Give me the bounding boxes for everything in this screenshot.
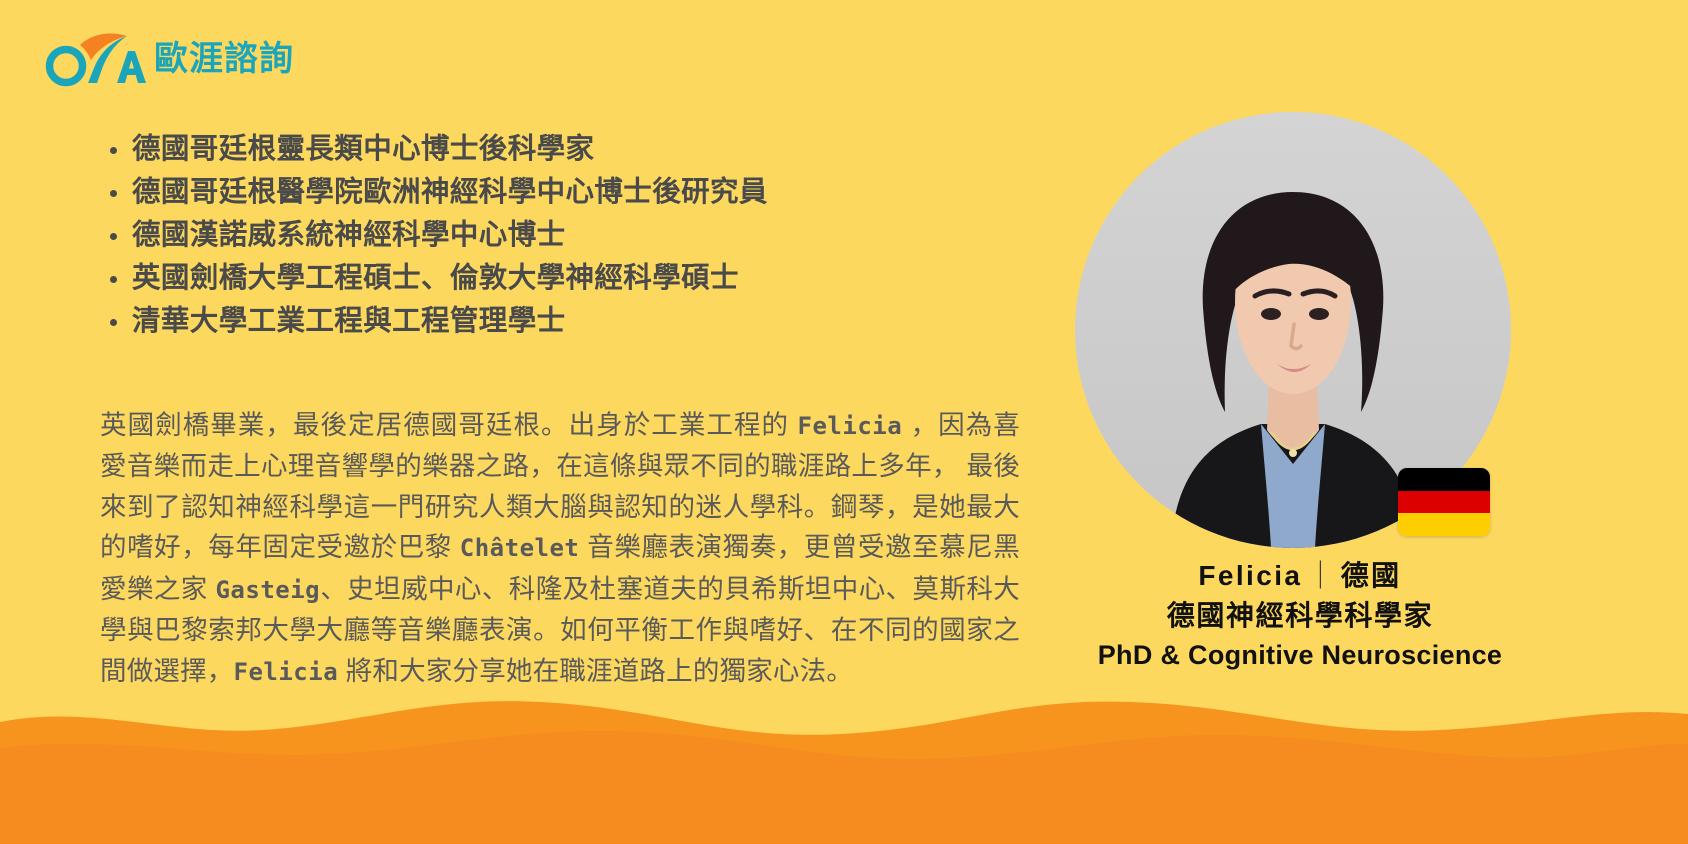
bio-latin-term: Felicia (798, 412, 903, 440)
profile-country: 德國 (1341, 560, 1402, 591)
flag-stripe-gold (1398, 513, 1490, 536)
bio-latin-term: Felicia (234, 658, 339, 686)
list-item: 德國漢諾威系統神經科學中心博士 (132, 214, 1092, 257)
list-item: 德國哥廷根醫學院歐洲神經科學中心博士後研究員 (132, 171, 1092, 214)
biography-paragraph: 英國劍橋畢業，最後定居德國哥廷根。出身於工業工程的 Felicia ，因為喜愛音… (100, 405, 1020, 693)
bio-latin-term: Châtelet (460, 534, 580, 562)
bio-text: 英國劍橋畢業，最後定居德國哥廷根。出身於工業工程的 (100, 410, 798, 440)
profile-caption: Felicia｜德國 德國神經科學科學家 PhD & Cognitive Neu… (1020, 556, 1580, 674)
profile-name: Felicia (1198, 560, 1302, 591)
profile-role-zh: 德國神經科學科學家 (1020, 596, 1580, 636)
germany-flag-icon (1398, 468, 1490, 536)
bio-latin-term: Gasteig (215, 576, 320, 604)
flag-stripe-black (1398, 468, 1490, 491)
brand-logo[interactable]: 歐涯諮詢 (44, 28, 344, 90)
oya-logo-mark-icon (44, 31, 148, 87)
flag-stripe-red (1398, 491, 1490, 514)
credentials-list: 德國哥廷根靈長類中心博士後科學家 德國哥廷根醫學院歐洲神經科學中心博士後研究員 … (98, 128, 1092, 343)
list-item: 清華大學工業工程與工程管理學士 (132, 300, 1092, 343)
list-item: 德國哥廷根靈長類中心博士後科學家 (132, 128, 1092, 171)
name-divider: ｜ (1302, 560, 1340, 591)
brand-logo-text: 歐涯諮詢 (154, 42, 294, 76)
profile-role-en: PhD & Cognitive Neuroscience (1020, 636, 1580, 674)
bio-text: 將和大家分享她在職涯道路上的獨家心法。 (338, 656, 853, 686)
poster-canvas: 歐涯諮詢 德國哥廷根靈長類中心博士後科學家 德國哥廷根醫學院歐洲神經科學中心博士… (0, 0, 1688, 844)
list-item: 英國劍橋大學工程碩士、倫敦大學神經科學碩士 (132, 257, 1092, 300)
profile-name-line: Felicia｜德國 (1020, 556, 1580, 596)
